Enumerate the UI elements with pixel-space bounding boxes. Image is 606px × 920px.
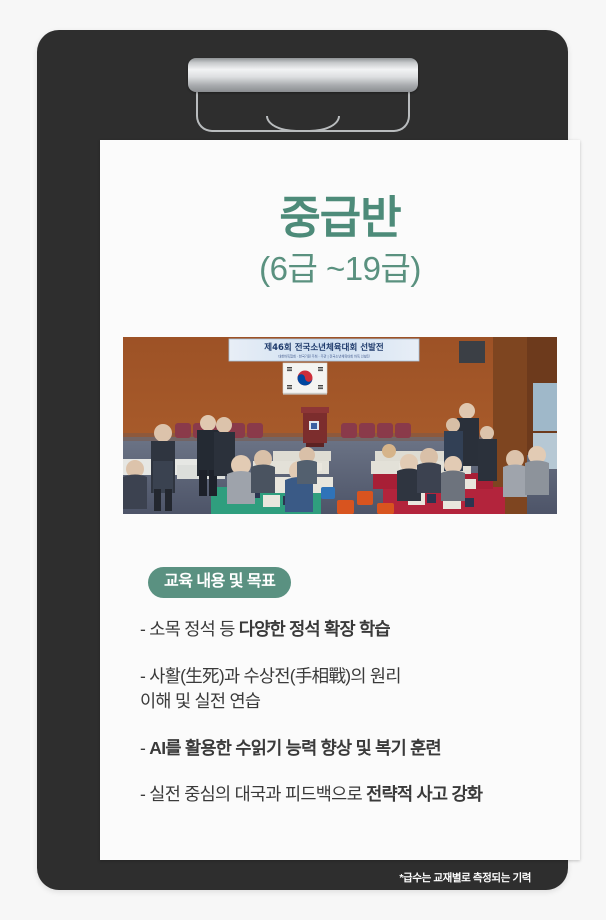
clipboard-board: 중급반 (6급 ~19급) [37, 30, 568, 890]
list-item-emphasis: 다양한 정석 확장 학습 [239, 619, 390, 639]
list-item-dash: - [140, 666, 149, 686]
list-item: - AI를 활용한 수읽기 능력 향상 및 복기 훈련 [140, 736, 560, 761]
list-item: - 소목 정석 등 다양한 정석 확장 학습 [140, 617, 560, 642]
paper-sheet: 중급반 (6급 ~19급) [100, 140, 580, 860]
list-item-dash: - [140, 619, 149, 639]
list-item-text: 사활(生死)과 수상전(手相戰)의 원리 이해 및 실전 연습 [140, 666, 401, 711]
list-item-text: 소목 정석 등 [149, 619, 239, 639]
bullet-list: - 소목 정석 등 다양한 정석 확장 학습- 사활(生死)과 수상전(手相戰)… [140, 617, 560, 829]
svg-text:대한바둑협회 · 한국기원 주최 · 주관 | 전국소년체육: 대한바둑협회 · 한국기원 주최 · 주관 | 전국소년체육대회 바둑 선발전 [278, 354, 369, 359]
list-item-dash: - [140, 784, 149, 804]
list-item-text: 실전 중심의 대국과 피드백으로 [149, 784, 366, 804]
svg-text:제46회 전국소년체육대회 선발전: 제46회 전국소년체육대회 선발전 [264, 342, 384, 353]
go-tournament-hall-photo: 제46회 전국소년체육대회 선발전 대한바둑협회 · 한국기원 주최 · 주관 … [123, 337, 557, 514]
footnote-text: *급수는 교재별로 측정되는 기력 [399, 870, 531, 885]
list-item: - 사활(生死)과 수상전(手相戰)의 원리 이해 및 실전 연습 [140, 664, 560, 714]
section-badge: 교육 내용 및 목표 [148, 567, 291, 598]
page-subtitle: (6급 ~19급) [100, 252, 580, 285]
list-item: - 실전 중심의 대국과 피드백으로 전략적 사고 강화 [140, 782, 560, 807]
list-item-dash: - [140, 738, 149, 758]
page-title: 중급반 [100, 195, 580, 240]
list-item-emphasis: 전략적 사고 강화 [366, 784, 482, 804]
list-item-emphasis: AI를 활용한 수읽기 능력 향상 및 복기 훈련 [149, 738, 441, 758]
